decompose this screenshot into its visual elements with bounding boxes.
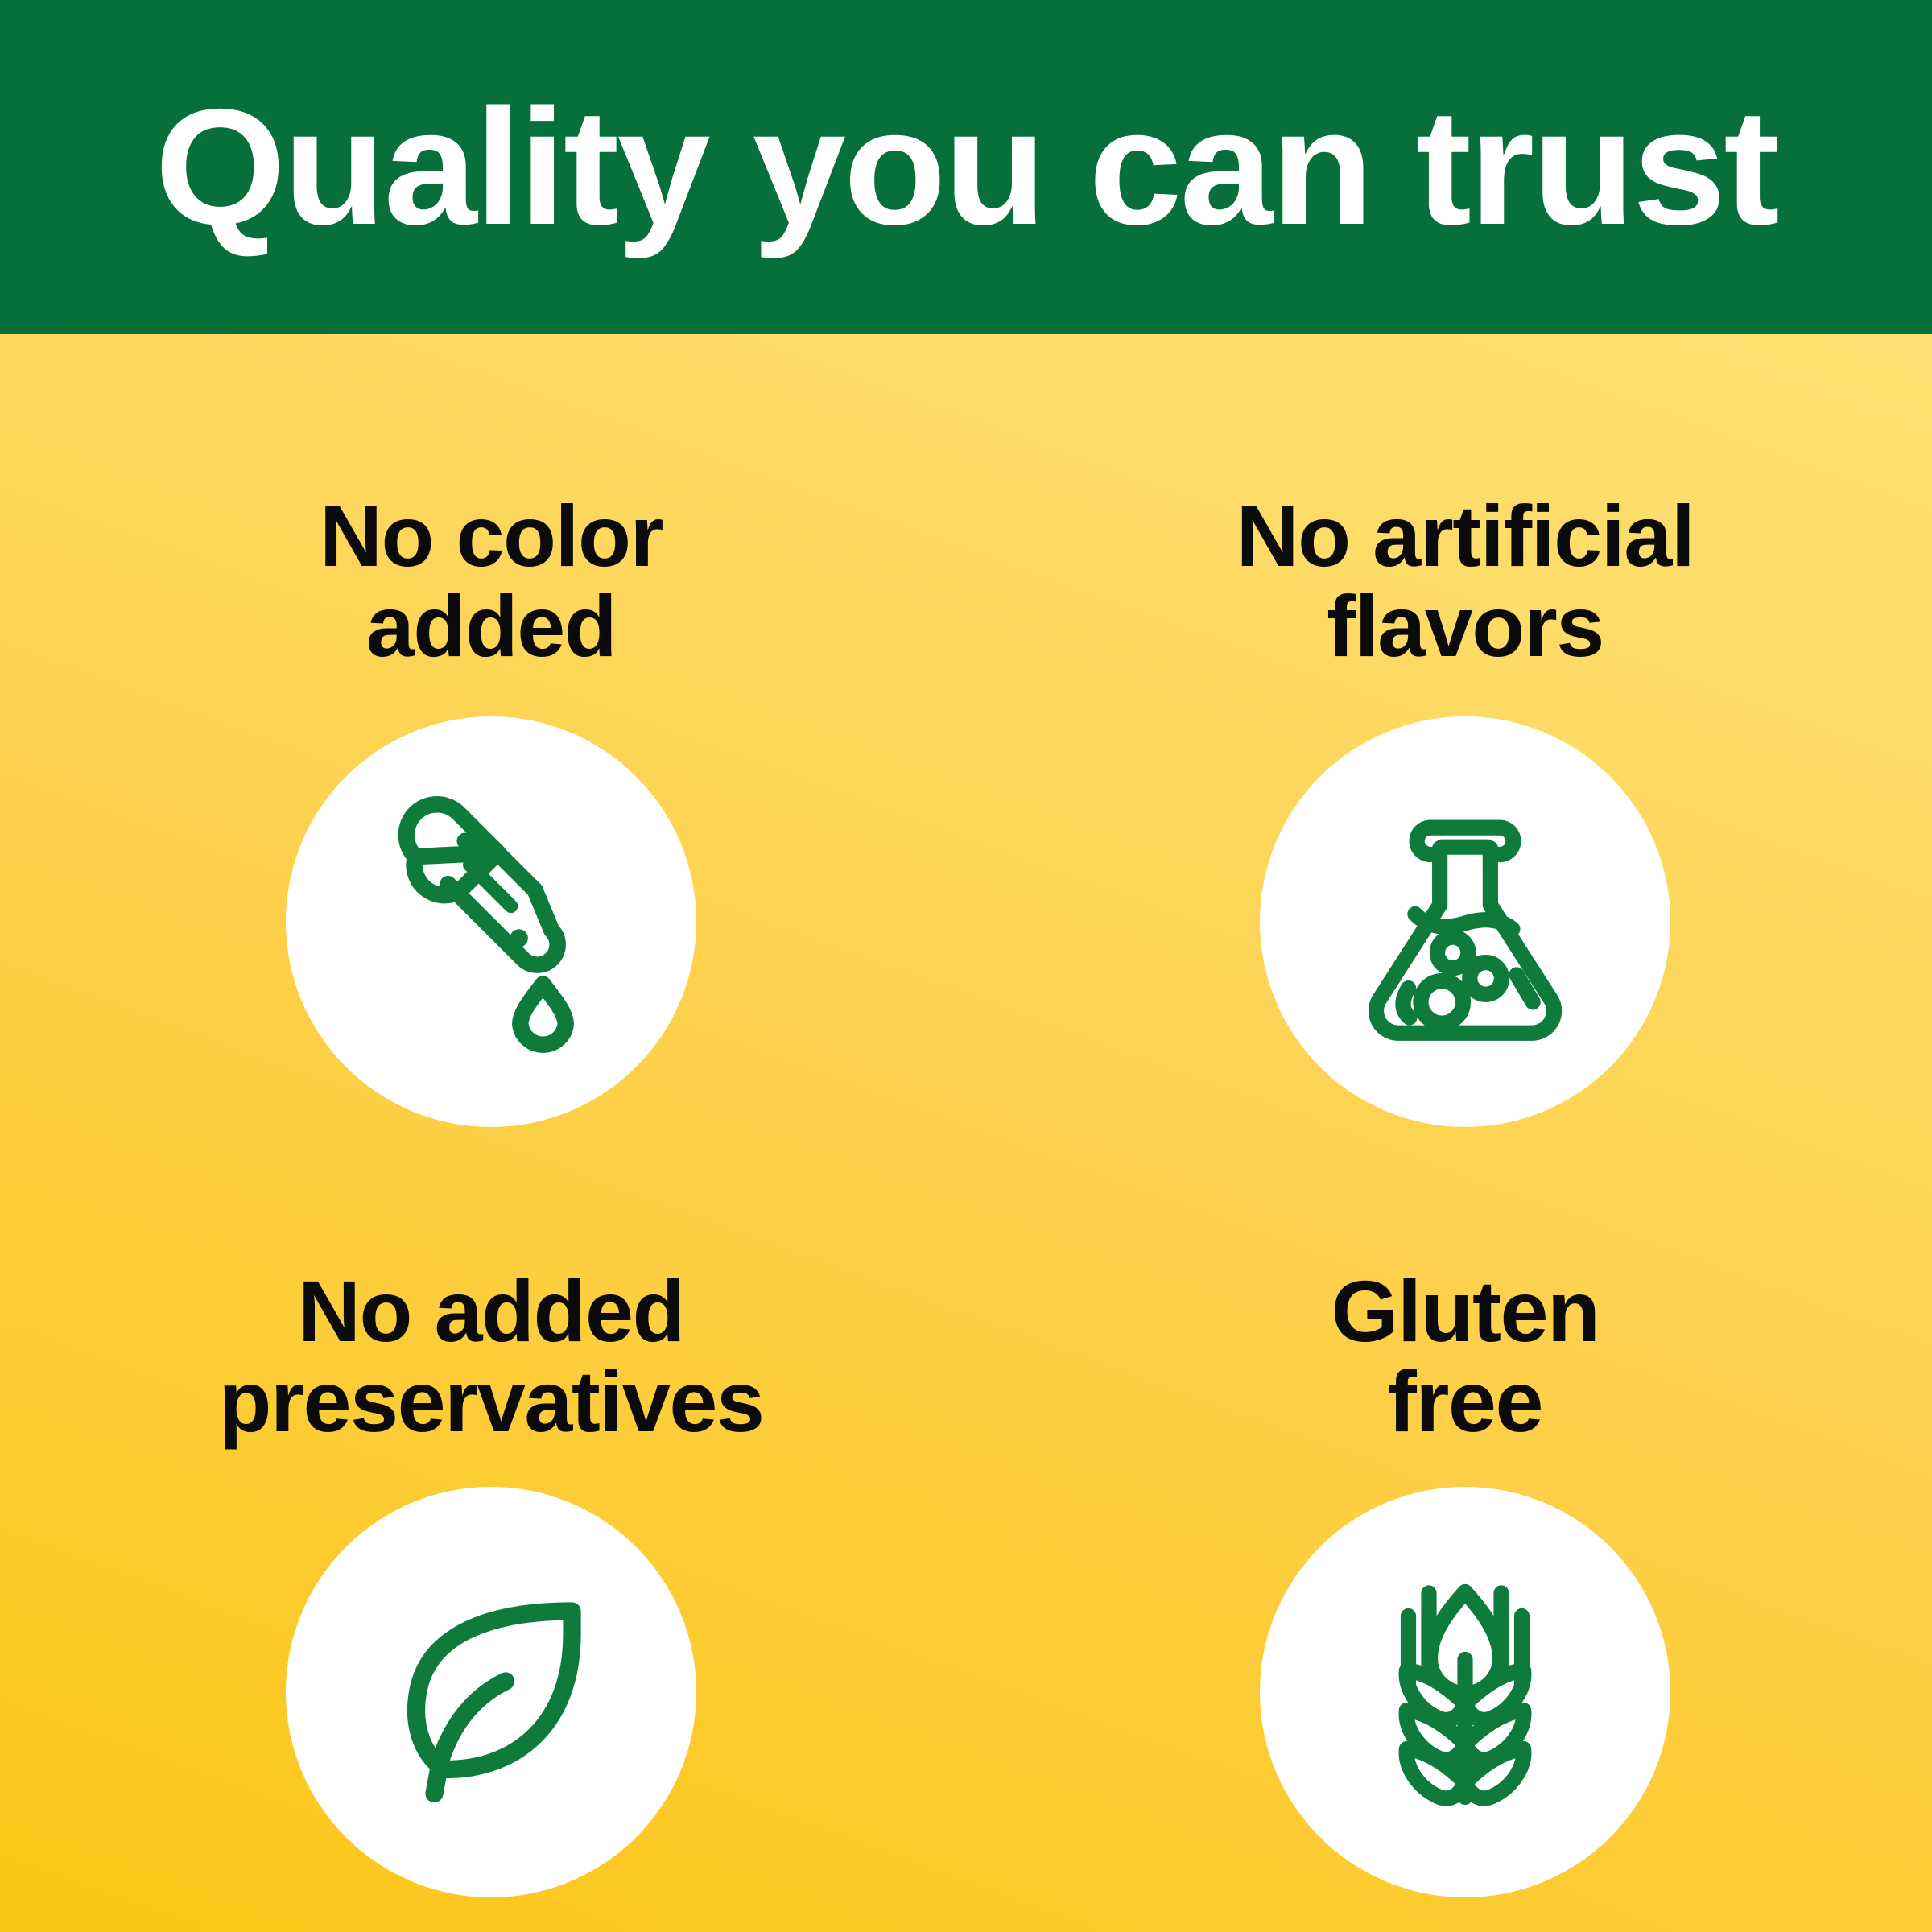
dropper-icon	[358, 789, 624, 1055]
claim-label-no-artificial-flavors: No artificial flavors	[1236, 491, 1695, 672]
claim-gluten-free: Gluten free	[982, 1133, 1932, 1932]
quality-badges-poster: Quality you can trust No color added	[0, 0, 1932, 1932]
claim-label-no-added-preservatives: No added preservatives	[218, 1266, 763, 1447]
icon-badge-gluten-free	[1260, 1487, 1670, 1897]
claim-label-gluten-free: Gluten free	[1331, 1266, 1600, 1447]
claim-label-no-color-added: No color added	[320, 491, 663, 672]
claim-no-color-added: No color added	[8, 334, 974, 1133]
claim-no-added-preservatives: No added preservatives	[8, 1133, 974, 1932]
claim-no-artificial-flavors: No artificial flavors	[982, 334, 1932, 1133]
wheat-icon	[1344, 1571, 1586, 1813]
header-banner: Quality you can trust	[0, 0, 1932, 334]
icon-badge-no-color-added	[286, 716, 696, 1127]
icon-badge-no-added-preservatives	[286, 1487, 696, 1897]
flask-icon	[1336, 793, 1594, 1051]
leaf-icon	[370, 1571, 612, 1813]
icon-badge-no-artificial-flavors	[1260, 716, 1670, 1127]
claims-grid: No color added	[0, 334, 1932, 1932]
page-title: Quality you can trust	[155, 85, 1777, 250]
